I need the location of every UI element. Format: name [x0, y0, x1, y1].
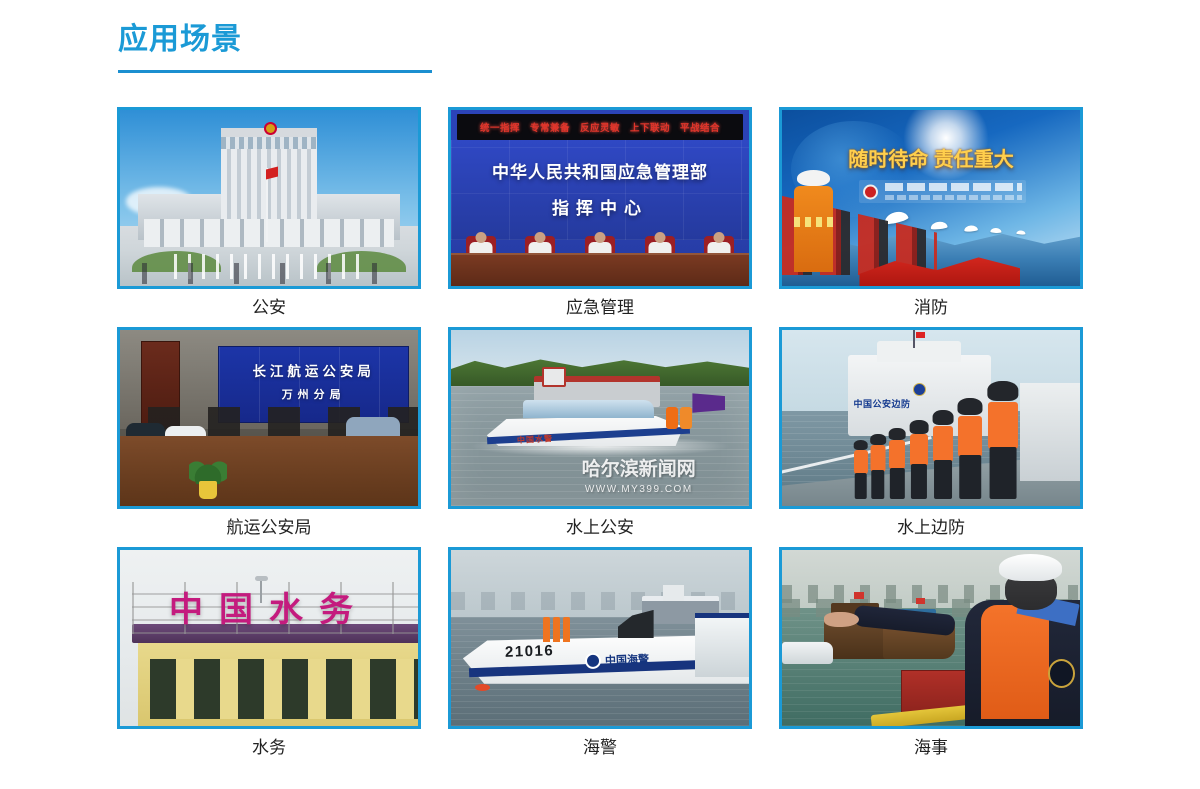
scenario-grid: 公安 统一指挥 专常兼备 反应灵敏 上下联动 平战结合 中华人民共和国应急管理部…	[117, 107, 1083, 767]
scenario-thumbnail-coast-guard[interactable]: 21016 中国海警	[448, 547, 752, 729]
rooftop-sign-text: 中国水务	[120, 582, 418, 631]
shipping-police-meeting-photo: 长江航运公安局 万州分局	[120, 330, 418, 506]
scenario-thumbnail-maritime-safety[interactable]	[779, 547, 1083, 729]
scenario-caption: 水上边防	[779, 509, 1083, 547]
scenario-thumbnail-water-affairs[interactable]: 中国水务	[117, 547, 421, 729]
scenario-card-fire-service[interactable]: 随时待命 责任重大 消防	[779, 107, 1083, 327]
scenario-caption: 海事	[779, 729, 1083, 767]
government-building-photo	[120, 110, 418, 286]
coast-guard-emblem-icon	[585, 653, 602, 670]
led-banner-item: 专常兼备	[530, 120, 570, 134]
scenario-caption: 水务	[117, 729, 421, 767]
led-banner-item: 平战结合	[680, 120, 720, 134]
fire-poster-headline: 随时待命 责任重大	[782, 143, 1080, 172]
scenario-thumbnail-fire-service[interactable]: 随时待命 责任重大	[779, 107, 1083, 289]
meeting-screen-line2: 万州分局	[219, 386, 408, 402]
scenario-card-water-affairs[interactable]: 中国水务 水务	[117, 547, 421, 767]
scenario-thumbnail-shipping-police[interactable]: 长江航运公安局 万州分局	[117, 327, 421, 509]
scenario-card-public-security[interactable]: 公安	[117, 107, 421, 327]
scenario-caption: 消防	[779, 289, 1083, 327]
page-title: 应用场景	[118, 20, 242, 60]
scenario-thumbnail-maritime-border[interactable]: 中国公安边防	[779, 327, 1083, 509]
scenario-thumbnail-public-security[interactable]	[117, 107, 421, 289]
scenario-caption: 航运公安局	[117, 509, 421, 547]
scenario-caption: 水上公安	[448, 509, 752, 547]
emergency-command-center-photo: 统一指挥 专常兼备 反应灵敏 上下联动 平战结合 中华人民共和国应急管理部 指挥…	[451, 110, 749, 286]
application-scenarios-page: 应用场景 公安	[0, 0, 1200, 789]
maritime-border-guard-photo: 中国公安边防	[782, 330, 1080, 506]
scenario-card-emergency-management[interactable]: 统一指挥 专常兼备 反应灵敏 上下联动 平战结合 中华人民共和国应急管理部 指挥…	[448, 107, 752, 327]
water-police-speedboat-photo: 中国水警 哈尔滨新闻网 WWW.MY399.COM	[451, 330, 749, 506]
scenario-card-shipping-police[interactable]: 长江航运公安局 万州分局 航运公安局	[117, 327, 421, 547]
scenario-caption: 海警	[448, 729, 752, 767]
fire-service-poster-photo: 随时待命 责任重大	[782, 110, 1080, 286]
title-underline-divider	[118, 70, 432, 73]
led-banner-item: 上下联动	[630, 120, 670, 134]
scenario-caption: 应急管理	[448, 289, 752, 327]
scenario-card-water-police[interactable]: 中国水警 哈尔滨新闻网 WWW.MY399.COM 水上公安	[448, 327, 752, 547]
scenario-card-maritime-safety[interactable]: 海事	[779, 547, 1083, 767]
cutter-hull-number: 21016	[504, 642, 554, 661]
coast-guard-cutter-photo: 21016 中国海警	[451, 550, 749, 726]
boat-hull-text: 中国水警	[516, 433, 553, 446]
led-banner-item: 反应灵敏	[580, 120, 620, 134]
watermark-site-name: 哈尔滨新闻网	[552, 454, 725, 481]
led-banner: 统一指挥 专常兼备 反应灵敏 上下联动 平战结合	[457, 114, 743, 140]
watermark-url: WWW.MY399.COM	[552, 484, 725, 495]
scenario-thumbnail-emergency-management[interactable]: 统一指挥 专常兼备 反应灵敏 上下联动 平战结合 中华人民共和国应急管理部 指挥…	[448, 107, 752, 289]
command-center-wall-line1: 中华人民共和国应急管理部	[451, 158, 749, 183]
scenario-card-coast-guard[interactable]: 21016 中国海警 海警	[448, 547, 752, 767]
scenario-card-maritime-border[interactable]: 中国公安边防 水上边防	[779, 327, 1083, 547]
scenario-thumbnail-water-police[interactable]: 中国水警 哈尔滨新闻网 WWW.MY399.COM	[448, 327, 752, 509]
scenario-caption: 公安	[117, 289, 421, 327]
water-affairs-building-photo: 中国水务	[120, 550, 418, 726]
meeting-screen-line1: 长江航运公安局	[219, 360, 408, 380]
cutter-hull-text: 中国海警	[605, 651, 650, 669]
led-banner-item: 统一指挥	[480, 120, 520, 134]
maritime-safety-officer-photo	[782, 550, 1080, 726]
command-center-wall-line2: 指挥中心	[451, 194, 749, 219]
